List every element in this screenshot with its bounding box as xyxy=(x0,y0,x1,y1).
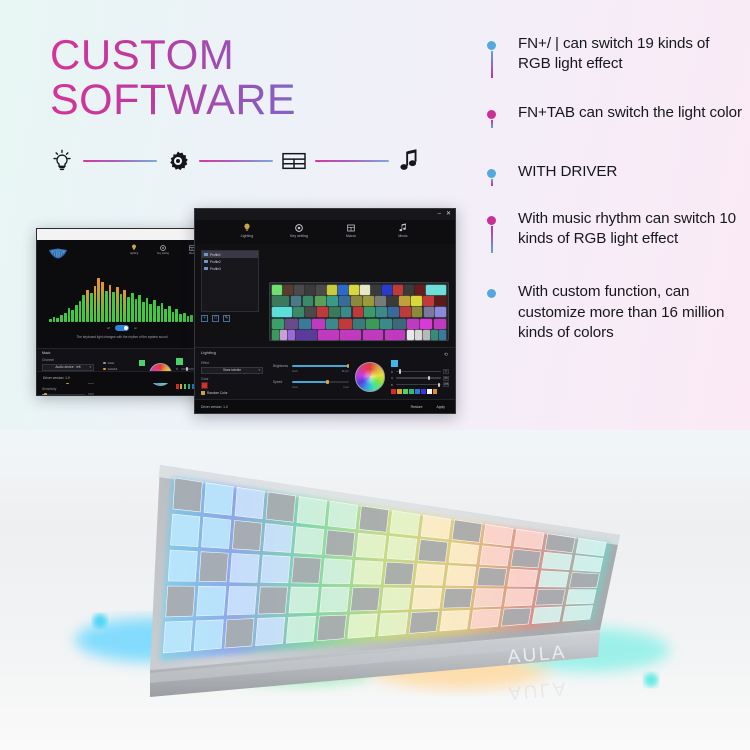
list-item[interactable]: Profile3 xyxy=(202,265,258,272)
keyboard-key[interactable] xyxy=(404,285,414,295)
lighting-status-bar: Driver version: 1.0 Restore Apply xyxy=(195,399,455,413)
keyboard-key xyxy=(471,609,501,628)
lighting-window-titlebar[interactable]: – ✕ xyxy=(195,209,455,220)
tab-label: Lighting xyxy=(232,234,262,238)
visualizer-bar xyxy=(94,286,97,322)
music-software-window[interactable]: Lighting Key setting Music off xyxy=(36,228,208,396)
keyboard-key[interactable] xyxy=(272,307,292,317)
keyboard-key[interactable] xyxy=(329,307,340,317)
connector-line-2 xyxy=(199,160,273,162)
sensitivity-label: Sensitivity xyxy=(42,387,94,391)
keyboard-key[interactable] xyxy=(317,307,328,317)
tab-label: Key setting xyxy=(284,234,314,238)
keyboard-key[interactable] xyxy=(439,330,446,340)
visualizer-bar xyxy=(105,291,108,322)
keyboard-key[interactable] xyxy=(360,285,370,295)
table-grid-icon xyxy=(336,222,366,233)
palette-swatch[interactable] xyxy=(176,384,179,389)
keyboard-key[interactable] xyxy=(299,319,311,329)
palette-swatch[interactable] xyxy=(409,389,414,394)
keyboard-key xyxy=(225,619,254,648)
keyboard-key[interactable] xyxy=(412,307,423,317)
keyboard-key xyxy=(163,621,192,653)
visualizer-bar xyxy=(109,285,112,322)
keyboard-key[interactable] xyxy=(424,307,435,317)
keyboard-key xyxy=(258,587,287,614)
color-swatch[interactable] xyxy=(201,382,208,389)
keyboard-key[interactable] xyxy=(327,285,337,295)
gear-icon xyxy=(163,145,193,177)
bullet-dot xyxy=(487,41,496,50)
keyboard-key[interactable] xyxy=(339,319,351,329)
music-visualizer xyxy=(49,278,197,322)
bullet-connector xyxy=(491,120,493,127)
keyboard-key[interactable] xyxy=(431,330,438,340)
keyboard-key xyxy=(232,520,261,550)
keyboard-key[interactable] xyxy=(393,285,403,295)
keyboard-preview[interactable] xyxy=(269,282,449,341)
music-window-body: Lighting Key setting Music off xyxy=(37,240,207,395)
aula-logo xyxy=(47,246,69,258)
keyboard-key[interactable] xyxy=(364,307,375,317)
tab-lighting[interactable]: Lighting xyxy=(232,222,262,244)
visualizer-bar xyxy=(135,299,138,322)
keyboard-key[interactable] xyxy=(434,319,446,329)
keyboard-key xyxy=(532,607,562,624)
visualizer-bar xyxy=(164,309,167,322)
keyboard-key[interactable] xyxy=(353,307,364,317)
keyboard-key[interactable] xyxy=(380,319,392,329)
keyboard-key[interactable] xyxy=(339,296,350,306)
keyboard-key[interactable] xyxy=(303,296,314,306)
palette-swatch[interactable] xyxy=(433,389,438,394)
keyboard-key xyxy=(418,539,448,562)
toggle-off-label: off xyxy=(107,326,110,330)
product-photo: AULA AULA xyxy=(0,425,750,750)
effect-value: Stars twinkle xyxy=(223,368,241,372)
keyboard-key[interactable] xyxy=(294,285,304,295)
bullet-connector xyxy=(491,179,493,186)
keyboard-key xyxy=(266,492,296,522)
visualizer-bar xyxy=(71,310,74,322)
keyboard-key[interactable] xyxy=(283,285,293,295)
restore-button[interactable]: Restore xyxy=(411,405,423,409)
music-status-bar: Driver version: 1.0 xyxy=(37,371,207,383)
profile-action-buttons[interactable]: + □ ✎ xyxy=(201,315,230,322)
keyboard-row xyxy=(272,285,446,295)
keyboard-key[interactable] xyxy=(291,296,302,306)
keyboard-row xyxy=(272,307,446,317)
lighting-window-toolbar[interactable]: Lighting Key setting Macro Music xyxy=(195,220,455,244)
rgb-value: 255 xyxy=(443,382,449,387)
keyboard-key xyxy=(452,520,482,543)
palette-swatch[interactable] xyxy=(188,384,191,389)
toggle-switch[interactable] xyxy=(115,325,129,331)
visualizer-bar xyxy=(179,314,182,322)
visualizer-bar xyxy=(120,294,123,322)
keyboard-key[interactable] xyxy=(363,296,374,306)
tab-key-setting[interactable]: Key setting xyxy=(284,222,314,244)
speed-label: Speed xyxy=(273,380,289,384)
keyboard-key[interactable] xyxy=(349,285,359,295)
table-grid-icon xyxy=(279,145,309,177)
slider-track[interactable] xyxy=(396,371,441,372)
lighting-main-area: Profile1 Profile2 Profile3 + □ ✎ xyxy=(195,244,455,347)
radio-dot xyxy=(103,368,106,371)
visualizer-bar xyxy=(116,287,119,322)
keyboard-key xyxy=(566,590,596,605)
keyboard-key[interactable] xyxy=(351,296,362,306)
keyboard-key[interactable] xyxy=(435,296,446,306)
keyboard-key xyxy=(480,546,510,566)
keyboard-key[interactable] xyxy=(272,296,289,306)
keyboard-key xyxy=(230,553,259,582)
keyboard-key xyxy=(197,586,226,616)
keyboard-key[interactable] xyxy=(415,285,425,295)
profile-icon xyxy=(204,267,208,270)
chevron-down-icon: ▾ xyxy=(89,365,91,369)
close-icon[interactable]: ✕ xyxy=(446,211,451,217)
keyboard-key xyxy=(235,487,265,518)
panel-title: Music xyxy=(37,349,207,355)
sensitivity-slider[interactable]: Sensitivity 4 xyxy=(42,387,94,396)
keyboard-key[interactable] xyxy=(272,319,284,329)
keyboard-key xyxy=(328,501,358,529)
keyboard-key xyxy=(289,587,318,613)
music-caption: The keyboard light changes with the rhyt… xyxy=(37,335,207,339)
keyboard-key xyxy=(535,589,565,605)
visualizer-bar xyxy=(168,306,171,322)
rgb-slider-g[interactable]: G 88 xyxy=(391,376,449,381)
reset-icon[interactable]: ⟲ xyxy=(444,352,448,358)
palette-swatch[interactable] xyxy=(391,389,396,394)
color-wheel[interactable] xyxy=(355,362,385,392)
slider-group: Brightness Dark Bright Speed xyxy=(273,364,349,396)
brightness-label: Brightness xyxy=(273,364,289,368)
keyboard-key[interactable] xyxy=(400,307,411,317)
palette-swatch[interactable] xyxy=(397,389,402,394)
delete-profile-button[interactable]: □ xyxy=(212,315,219,322)
bullet-dot xyxy=(487,110,496,119)
visualizer-bar xyxy=(161,303,164,322)
keyboard-key xyxy=(322,559,352,584)
keyboard-key[interactable] xyxy=(340,330,361,340)
palette-swatch[interactable] xyxy=(415,389,420,394)
visualizer-bar xyxy=(79,301,82,322)
keyboard-key xyxy=(286,616,315,643)
visualizer-bar xyxy=(175,309,178,322)
color-palette[interactable] xyxy=(391,389,449,394)
tab-lighting[interactable]: Lighting xyxy=(125,244,143,255)
keyboard-key xyxy=(325,530,355,556)
keyboard-key[interactable] xyxy=(366,319,378,329)
bullet-text: FN+TAB can switch the light color xyxy=(518,103,742,123)
rgb-value: 88 xyxy=(443,376,449,381)
visualizer-bar xyxy=(142,302,145,322)
brightness-slider[interactable]: Brightness Dark Bright xyxy=(273,364,349,373)
visualizer-bar xyxy=(153,300,156,322)
apply-button[interactable]: Apply xyxy=(437,405,445,409)
keyboard-key[interactable] xyxy=(393,319,405,329)
keyboard-key xyxy=(440,610,470,631)
keyboard-key xyxy=(477,567,507,586)
keyboard-key xyxy=(166,586,195,617)
keyboard-key xyxy=(409,611,439,633)
keyboard-key xyxy=(474,589,504,607)
lightbulb-icon xyxy=(125,244,143,251)
keyboard-key[interactable] xyxy=(305,285,315,295)
keyboard-key[interactable] xyxy=(415,330,422,340)
keyboard-key xyxy=(387,536,417,560)
visualizer-bar xyxy=(190,315,193,322)
rgb-label: B xyxy=(391,383,394,387)
visualizer-bar xyxy=(112,292,115,322)
bullet-text: FN+/ | can switch 19 kinds of RGB light … xyxy=(518,34,742,74)
music-reactive-toggle[interactable]: off on xyxy=(37,325,207,331)
visualizer-bar xyxy=(149,304,152,322)
tab-key-setting[interactable]: Key setting xyxy=(154,244,172,255)
keyboard-key[interactable] xyxy=(353,319,365,329)
visualizer-bar xyxy=(101,282,104,322)
bullet-text: WITH DRIVER xyxy=(518,162,742,182)
edit-profile-button[interactable]: ✎ xyxy=(223,315,230,322)
visualizer-bar xyxy=(127,297,130,322)
add-profile-button[interactable]: + xyxy=(201,315,208,322)
sensitivity-value: 4 xyxy=(88,393,94,397)
keyboard-key[interactable] xyxy=(280,330,287,340)
keyboard-key xyxy=(294,527,324,555)
visualizer-bar xyxy=(131,293,134,322)
brightness-min-label: Dark xyxy=(292,369,298,373)
visualizer-bar xyxy=(82,295,85,322)
keyboard-key xyxy=(449,543,479,564)
profile-label: Profile3 xyxy=(210,267,221,271)
keyboard-key[interactable] xyxy=(363,330,384,340)
list-item: FN+/ | can switch 19 kinds of RGB light … xyxy=(487,34,742,74)
keyboard-key xyxy=(204,483,233,516)
palette-swatch[interactable] xyxy=(427,389,432,394)
channel-select[interactable]: Audio device : left ▾ xyxy=(42,364,94,371)
keyboard-key[interactable] xyxy=(285,319,297,329)
lighting-software-window[interactable]: – ✕ Lighting Key setting Mac xyxy=(194,208,456,414)
tab-music[interactable]: Music xyxy=(388,222,418,244)
palette-swatch[interactable] xyxy=(184,384,187,389)
keyboard-key[interactable] xyxy=(272,285,282,295)
keyboard-key xyxy=(351,588,381,611)
palette-swatch[interactable] xyxy=(421,389,426,394)
selected-color-preview xyxy=(391,360,398,367)
keyboard-key xyxy=(384,562,414,585)
random-color-checkbox[interactable]: Random Color xyxy=(201,391,263,395)
keyboard-key xyxy=(504,589,534,606)
profile-label: Profile2 xyxy=(210,260,221,264)
rgb-label: G xyxy=(391,376,394,380)
checkbox-box xyxy=(201,391,205,395)
channel-value: Audio device : left xyxy=(55,365,80,369)
slider-track[interactable] xyxy=(396,377,441,378)
keyboard-key xyxy=(297,497,327,526)
music-window-titlebar[interactable] xyxy=(37,229,207,240)
keyboard-key xyxy=(356,533,386,558)
keyboard-key[interactable] xyxy=(316,285,326,295)
keyboard-key xyxy=(415,564,445,585)
profile-icon xyxy=(204,260,208,263)
keyboard-key[interactable] xyxy=(388,307,399,317)
profile-icon xyxy=(204,253,208,256)
keyboard-key[interactable] xyxy=(272,330,279,340)
visualizer-bar xyxy=(60,315,63,322)
connector-line-3 xyxy=(315,160,389,162)
toggle-on-label: on xyxy=(134,326,137,330)
lightbulb-icon xyxy=(232,222,262,233)
keyboard-key[interactable] xyxy=(318,330,339,340)
chevron-down-icon: ▾ xyxy=(258,368,260,372)
keyboard-key[interactable] xyxy=(387,296,398,306)
bullet-dot xyxy=(487,169,496,178)
keyboard-key xyxy=(292,557,322,583)
keyboard-key xyxy=(446,566,476,586)
keyboard-key[interactable] xyxy=(376,307,387,317)
palette-swatch[interactable] xyxy=(403,389,408,394)
keyboard-key xyxy=(359,506,389,532)
slider-track[interactable] xyxy=(292,381,349,382)
keyboard-key xyxy=(256,617,285,645)
keyboard-key[interactable] xyxy=(341,307,352,317)
keyboard-key xyxy=(317,615,346,641)
bullet-connector xyxy=(491,226,493,253)
keyboard-key[interactable] xyxy=(399,296,410,306)
list-item: With custom function, can customize more… xyxy=(487,282,742,343)
visualizer-bar xyxy=(86,290,89,322)
tab-label: Music xyxy=(388,234,418,238)
visualizer-bar xyxy=(68,308,71,322)
gear-icon xyxy=(154,244,172,251)
keyboard-key[interactable] xyxy=(407,319,419,329)
slider-track[interactable] xyxy=(42,394,85,395)
keyboard-key xyxy=(263,524,293,553)
keyboard-key[interactable] xyxy=(420,319,432,329)
keyboard-row xyxy=(272,330,446,340)
keyboard-key xyxy=(261,555,290,583)
bullet-dot xyxy=(487,289,496,298)
list-item[interactable]: Profile1 xyxy=(202,251,258,258)
visualizer-bar xyxy=(123,290,126,322)
keyboard-key[interactable] xyxy=(423,296,434,306)
rgb-slider-b[interactable]: B 255 xyxy=(391,382,449,387)
keyboard-key xyxy=(171,514,200,547)
palette-swatch[interactable] xyxy=(180,384,183,389)
headline-line-1: CUSTOM xyxy=(50,32,470,77)
effect-label: Effect xyxy=(201,361,263,365)
bullet-text: With music rhythm can switch 10 kinds of… xyxy=(518,209,742,249)
keyboard-key xyxy=(569,572,599,587)
keyboard-key xyxy=(320,587,350,612)
keyboard-key xyxy=(511,549,541,568)
lightbulb-icon xyxy=(47,145,77,177)
profile-label: Profile1 xyxy=(210,253,221,257)
feature-icon-strip xyxy=(47,143,425,179)
radio-color[interactable]: Color xyxy=(103,361,139,365)
bullet-connector xyxy=(491,51,493,78)
keyboard-key[interactable] xyxy=(315,296,326,306)
keyboard-key[interactable] xyxy=(382,285,392,295)
keyboard-row xyxy=(272,319,446,329)
profile-list[interactable]: Profile1 Profile2 Profile3 xyxy=(201,250,259,312)
keyboard-key xyxy=(227,587,256,615)
keyboard-key[interactable] xyxy=(312,319,324,329)
bullet-text: With custom function, can customize more… xyxy=(518,282,742,343)
visualizer-bar xyxy=(53,317,56,322)
connector-line-1 xyxy=(83,160,157,162)
rgb-value: 0 xyxy=(443,369,449,374)
driver-version: Driver version: 1.0 xyxy=(201,405,228,409)
gear-icon xyxy=(284,222,314,233)
visualizer-bar xyxy=(97,278,100,322)
list-item[interactable]: Profile2 xyxy=(202,258,258,265)
radio-label: Color xyxy=(108,361,115,365)
panel-title: Lighting xyxy=(195,348,455,355)
channel-label: Channel xyxy=(42,358,94,362)
speed-slider[interactable]: Speed Slow Fast xyxy=(273,380,349,389)
keyboard-key[interactable] xyxy=(385,330,406,340)
keyboard-key xyxy=(348,614,378,638)
keyboard-key[interactable] xyxy=(435,307,446,317)
keyboard-key[interactable] xyxy=(338,285,348,295)
keyboard-key[interactable] xyxy=(371,285,381,295)
music-note-icon xyxy=(388,222,418,233)
effect-select[interactable]: Stars twinkle ▾ xyxy=(201,367,263,374)
keyboard-key[interactable] xyxy=(375,296,386,306)
keyboard-key xyxy=(378,613,408,636)
tab-macro[interactable]: Macro xyxy=(336,222,366,244)
keyboard-key[interactable] xyxy=(411,296,422,306)
speed-min-label: Slow xyxy=(292,385,298,389)
page-stage: CUSTOM SOFTWARE xyxy=(0,0,750,750)
visualizer-bar xyxy=(187,316,190,322)
list-item: With music rhythm can switch 10 kinds of… xyxy=(487,209,742,249)
slider-track[interactable] xyxy=(396,384,441,385)
rgb-slider-r[interactable]: R 0 xyxy=(391,369,449,374)
driver-version: Driver version: 1.0 xyxy=(43,376,70,380)
checkbox-label: Random Color xyxy=(207,391,228,395)
keyboard-key[interactable] xyxy=(407,330,414,340)
keyboard-key xyxy=(421,515,451,539)
visualizer-bar xyxy=(64,313,67,322)
keyboard-key[interactable] xyxy=(423,330,430,340)
selected-color-preview xyxy=(176,358,183,365)
keyboard-key[interactable] xyxy=(426,285,446,295)
keyboard-key[interactable] xyxy=(327,296,338,306)
music-color-swatch[interactable] xyxy=(139,360,145,366)
keyboard-key xyxy=(501,608,531,626)
minimize-icon[interactable]: – xyxy=(438,211,441,217)
tab-label: Lighting xyxy=(125,252,143,255)
page-title: CUSTOM SOFTWARE xyxy=(50,32,470,124)
keyboard-key[interactable] xyxy=(288,330,295,340)
effect-color-group: Effect Stars twinkle ▾ Color Random Colo… xyxy=(201,361,263,395)
keyboard-key xyxy=(199,552,228,582)
keyboard-key[interactable] xyxy=(296,330,317,340)
visualizer-bar xyxy=(49,319,52,322)
slider-track[interactable] xyxy=(292,365,349,366)
window-controls[interactable]: – ✕ xyxy=(438,211,451,217)
keyboard-key[interactable] xyxy=(293,307,304,317)
keyboard-key[interactable] xyxy=(305,307,316,317)
keyboard-key xyxy=(390,511,420,536)
bullet-dot xyxy=(487,216,496,225)
keyboard-key[interactable] xyxy=(326,319,338,329)
keyboard-key xyxy=(539,571,569,587)
